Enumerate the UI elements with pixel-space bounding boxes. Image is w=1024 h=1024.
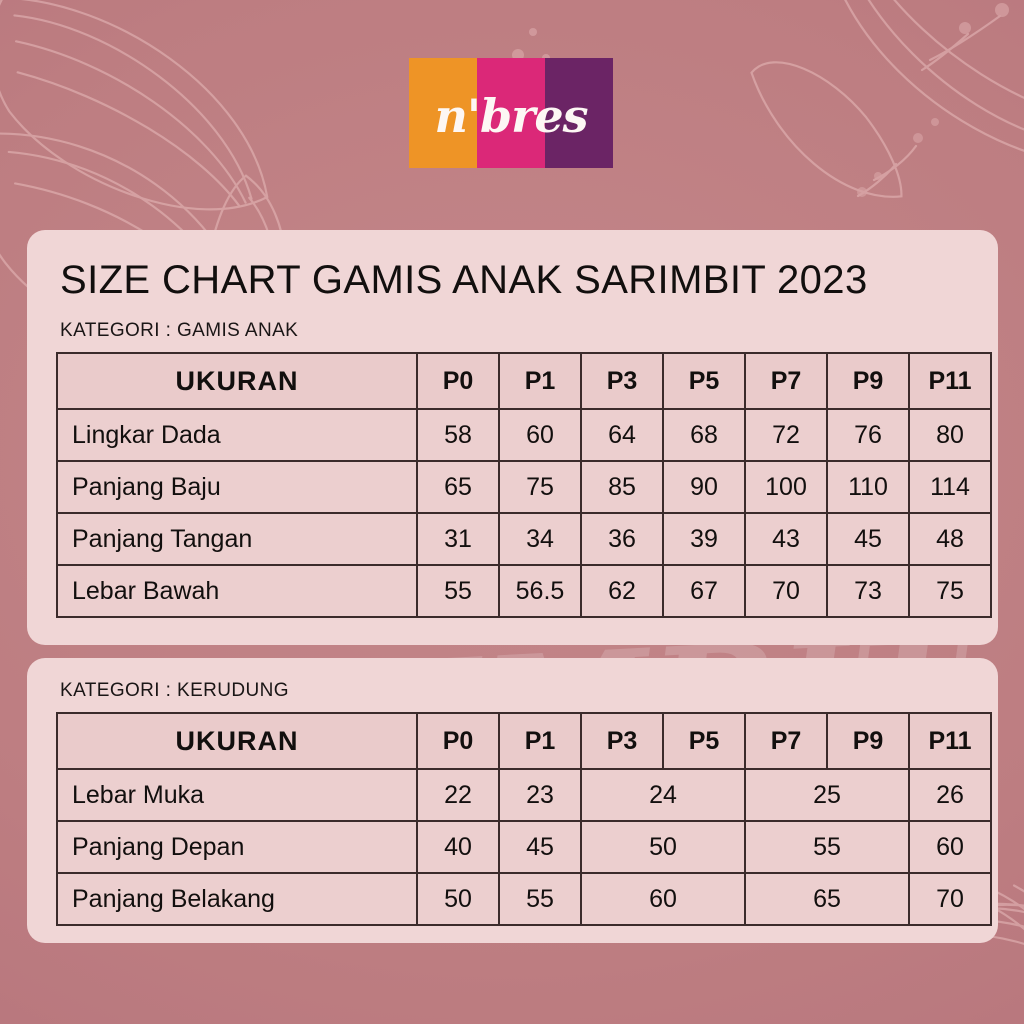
column-header-ukuran: UKURAN — [57, 353, 417, 409]
kategori-label-gamis: KATEGORI : GAMIS ANAK — [27, 320, 998, 342]
row-label: Lebar Bawah — [57, 565, 417, 617]
gamis-size-table: UKURAN P0P1P3P5P7P9P11 Lingkar Dada58606… — [56, 352, 992, 618]
measurement-cell: 45 — [827, 513, 909, 565]
measurement-cell: 72 — [745, 409, 827, 461]
gamis-anak-card: SIZE CHART GAMIS ANAK SARIMBIT 2023 KATE… — [27, 230, 998, 645]
measurement-cell: 24 — [581, 769, 745, 821]
table-body: Lebar Muka2223242526Panjang Depan4045505… — [57, 769, 991, 925]
measurement-cell: 55 — [499, 873, 581, 925]
page-title: SIZE CHART GAMIS ANAK SARIMBIT 2023 — [27, 230, 998, 300]
measurement-cell: 75 — [499, 461, 581, 513]
measurement-cell: 64 — [581, 409, 663, 461]
row-label: Panjang Baju — [57, 461, 417, 513]
measurement-cell: 85 — [581, 461, 663, 513]
measurement-cell: 26 — [909, 769, 991, 821]
measurement-cell: 65 — [417, 461, 499, 513]
column-header-size-p9: P9 — [827, 713, 909, 769]
column-header-size-p5: P5 — [663, 353, 745, 409]
row-label: Lingkar Dada — [57, 409, 417, 461]
measurement-cell: 60 — [581, 873, 745, 925]
column-header-size-p7: P7 — [745, 353, 827, 409]
column-header-size-p7: P7 — [745, 713, 827, 769]
measurement-cell: 34 — [499, 513, 581, 565]
measurement-cell: 110 — [827, 461, 909, 513]
column-header-size-p11: P11 — [909, 353, 991, 409]
table-row: Panjang Belakang5055606570 — [57, 873, 991, 925]
column-header-size-p0: P0 — [417, 353, 499, 409]
measurement-cell: 70 — [745, 565, 827, 617]
measurement-cell: 76 — [827, 409, 909, 461]
kerudung-size-table: UKURAN P0P1P3P5P7P9P11 Lebar Muka2223242… — [56, 712, 992, 926]
measurement-cell: 50 — [417, 873, 499, 925]
column-header-size-p3: P3 — [581, 713, 663, 769]
measurement-cell: 39 — [663, 513, 745, 565]
logo-wordmark-text: n'bres — [434, 93, 587, 139]
measurement-cell: 65 — [745, 873, 909, 925]
measurement-cell: 55 — [745, 821, 909, 873]
column-header-size-p1: P1 — [499, 353, 581, 409]
measurement-cell: 73 — [827, 565, 909, 617]
table-row: Panjang Depan4045505560 — [57, 821, 991, 873]
measurement-cell: 114 — [909, 461, 991, 513]
row-label: Panjang Tangan — [57, 513, 417, 565]
measurement-cell: 100 — [745, 461, 827, 513]
measurement-cell: 60 — [909, 821, 991, 873]
measurement-cell: 55 — [417, 565, 499, 617]
column-header-size-p1: P1 — [499, 713, 581, 769]
measurement-cell: 25 — [745, 769, 909, 821]
kerudung-card: KATEGORI : KERUDUNG UKURAN P0P1P3P5P7P9P… — [27, 658, 998, 943]
column-header-size-p5: P5 — [663, 713, 745, 769]
column-header-ukuran: UKURAN — [57, 713, 417, 769]
nibras-brand-logo: n'bres — [409, 58, 613, 168]
measurement-cell: 58 — [417, 409, 499, 461]
measurement-cell: 60 — [499, 409, 581, 461]
table-header-row: UKURAN P0P1P3P5P7P9P11 — [57, 713, 991, 769]
row-label: Panjang Depan — [57, 821, 417, 873]
table-row: Lebar Muka2223242526 — [57, 769, 991, 821]
measurement-cell: 43 — [745, 513, 827, 565]
measurement-cell: 75 — [909, 565, 991, 617]
measurement-cell: 40 — [417, 821, 499, 873]
measurement-cell: 67 — [663, 565, 745, 617]
measurement-cell: 70 — [909, 873, 991, 925]
table-row: Lebar Bawah5556.56267707375 — [57, 565, 991, 617]
measurement-cell: 56.5 — [499, 565, 581, 617]
measurement-cell: 22 — [417, 769, 499, 821]
measurement-cell: 23 — [499, 769, 581, 821]
row-label: Lebar Muka — [57, 769, 417, 821]
measurement-cell: 50 — [581, 821, 745, 873]
table-row: Lingkar Dada58606468727680 — [57, 409, 991, 461]
table-header-row: UKURAN P0P1P3P5P7P9P11 — [57, 353, 991, 409]
measurement-cell: 62 — [581, 565, 663, 617]
row-label: Panjang Belakang — [57, 873, 417, 925]
kategori-label-kerudung: KATEGORI : KERUDUNG — [27, 680, 998, 702]
measurement-cell: 36 — [581, 513, 663, 565]
table-body: Lingkar Dada58606468727680Panjang Baju65… — [57, 409, 991, 617]
measurement-cell: 48 — [909, 513, 991, 565]
column-header-size-p3: P3 — [581, 353, 663, 409]
measurement-cell: 68 — [663, 409, 745, 461]
column-header-size-p9: P9 — [827, 353, 909, 409]
logo-wordmark: n'bres — [409, 58, 613, 168]
measurement-cell: 80 — [909, 409, 991, 461]
measurement-cell: 31 — [417, 513, 499, 565]
measurement-cell: 90 — [663, 461, 745, 513]
column-header-size-p11: P11 — [909, 713, 991, 769]
table-row: Panjang Baju65758590100110114 — [57, 461, 991, 513]
measurement-cell: 45 — [499, 821, 581, 873]
table-row: Panjang Tangan31343639434548 — [57, 513, 991, 565]
column-header-size-p0: P0 — [417, 713, 499, 769]
